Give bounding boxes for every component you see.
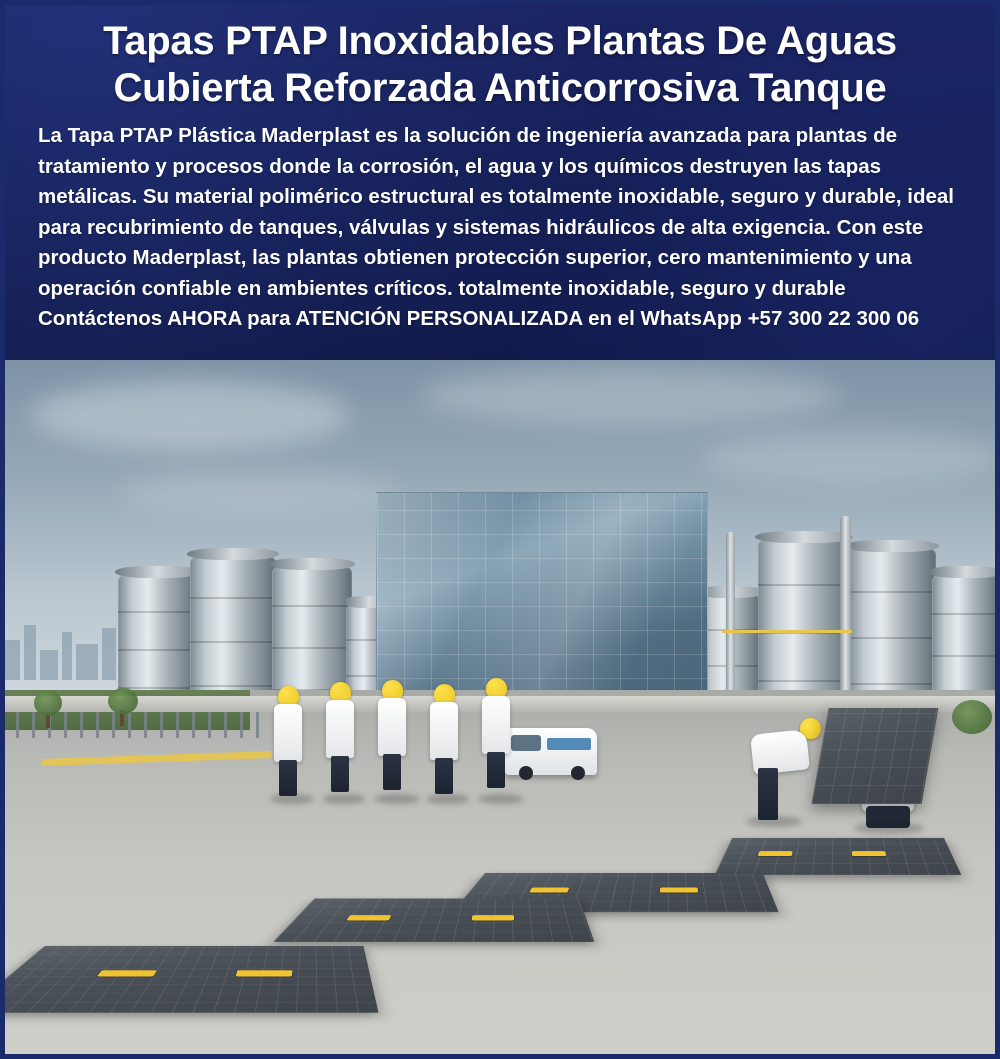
fence	[0, 712, 268, 738]
van-decal	[547, 738, 591, 750]
tree	[952, 700, 992, 734]
tapa-handle	[852, 851, 886, 856]
van-window	[511, 735, 541, 751]
tapa-grid	[273, 898, 594, 942]
worker-legs	[487, 752, 505, 788]
lab-coat	[274, 704, 302, 762]
cloud	[420, 366, 840, 426]
tapa-panel-vertical	[812, 708, 939, 804]
tapa-handle	[236, 970, 293, 976]
worker-legs	[866, 806, 910, 828]
lab-coat	[482, 696, 510, 754]
tapa-handle	[472, 915, 514, 920]
worker-legs	[435, 758, 453, 794]
whatsapp-cta[interactable]: Contáctenos AHORA para ATENCIÓN PERSONAL…	[38, 304, 974, 335]
service-van	[505, 728, 597, 775]
promo-banner: Tapas PTAP Inoxidables Plantas De Aguas …	[0, 0, 1000, 360]
worker	[326, 678, 358, 800]
tapa-handle	[529, 888, 569, 893]
headline-line-1: Tapas PTAP Inoxidables Plantas De Aguas	[103, 19, 897, 63]
worker-shadow	[426, 794, 470, 804]
van-wheel	[571, 766, 585, 780]
promo-page: Tapas PTAP Inoxidables Plantas De Aguas …	[0, 0, 1000, 1059]
worker	[378, 676, 410, 800]
tapa-panel	[273, 898, 594, 942]
lab-coat	[378, 698, 406, 756]
plant-photo: AQUATECH SOLUTIONS	[0, 360, 1000, 1059]
worker-shadow	[374, 794, 420, 804]
tapa-handle	[660, 888, 698, 893]
banner-inner: Tapas PTAP Inoxidables Plantas De Aguas …	[14, 0, 986, 335]
page-title: Tapas PTAP Inoxidables Plantas De Aguas …	[14, 0, 986, 112]
cloud	[120, 470, 400, 516]
cloud	[30, 380, 350, 450]
worker-shadow	[322, 794, 366, 804]
worker	[274, 682, 306, 800]
tapa-grid	[0, 946, 378, 1013]
lab-coat	[326, 700, 354, 758]
tree	[34, 690, 62, 716]
tree	[108, 688, 138, 714]
worker-legs	[279, 760, 297, 796]
worker-legs	[331, 756, 349, 792]
worker-bending	[752, 712, 792, 822]
worker-shadow	[478, 794, 524, 804]
tapa-handle	[758, 851, 793, 856]
tapa-panel-foreground	[0, 946, 378, 1013]
banner-description: La Tapa PTAP Plástica Maderplast es la s…	[14, 121, 986, 335]
tapa-handle	[346, 915, 391, 920]
tapa-handle	[97, 970, 157, 976]
cloud	[700, 430, 1000, 485]
worker	[482, 674, 514, 800]
lab-coat	[430, 702, 458, 760]
pipe-band	[722, 630, 852, 633]
worker	[430, 680, 462, 800]
tapa-grid	[812, 708, 939, 804]
worker-legs	[758, 768, 778, 820]
van-wheel	[519, 766, 533, 780]
description-text: La Tapa PTAP Plástica Maderplast es la s…	[38, 124, 954, 300]
headline-line-2: Cubierta Reforzada Anticorrosiva Tanque	[14, 65, 986, 112]
worker-legs	[383, 754, 401, 790]
